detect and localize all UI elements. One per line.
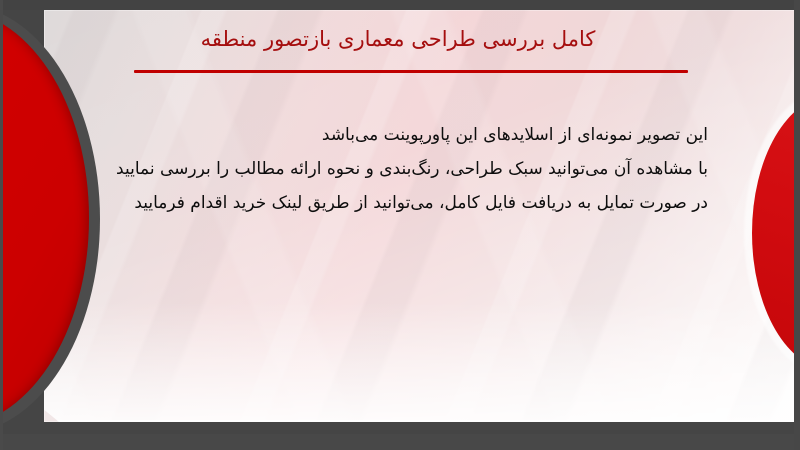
title-underline-rule xyxy=(134,70,688,73)
slide-frame-left-edge xyxy=(0,0,3,450)
presentation-slide: کامل بررسی طراحی معماری بازتصور منطقه ای… xyxy=(0,0,800,450)
slide-body-text: این تصویر نمونه‌ای از اسلایدهای این پاور… xyxy=(88,118,708,220)
body-line-1: این تصویر نمونه‌ای از اسلایدهای این پاور… xyxy=(88,118,708,152)
slide-frame-bottom-band xyxy=(0,434,800,450)
slide-frame-right-edge xyxy=(794,0,800,450)
slide-content: کامل بررسی طراحی معماری بازتصور منطقه ای… xyxy=(0,0,800,450)
body-line-2: با مشاهده آن می‌توانید سبک طراحی، رنگ‌بن… xyxy=(88,152,708,186)
slide-title: کامل بررسی طراحی معماری بازتصور منطقه xyxy=(108,24,688,54)
slide-frame-top-band xyxy=(0,0,800,10)
body-line-3: در صورت تمایل به دریافت فایل کامل، می‌تو… xyxy=(88,186,708,220)
